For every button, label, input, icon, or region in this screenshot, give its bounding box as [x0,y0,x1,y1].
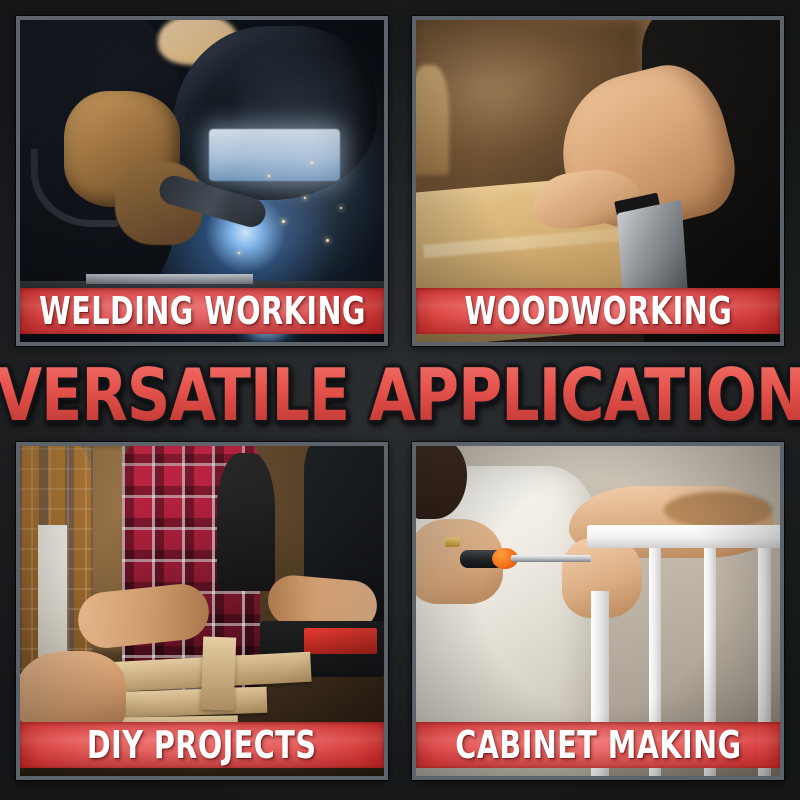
diy-white-shirt [38,525,67,657]
headline-band: VERSATILE APPLICATION [0,352,800,438]
panel-woodworking[interactable]: WOODWORKING [412,16,784,346]
panel-label-banner-woodworking: WOODWORKING [416,288,780,334]
panel-label-welding: WELDING WORKING [39,292,366,330]
weld-spark [268,175,270,177]
panel-label-woodworking: WOODWORKING [464,292,732,330]
wedding-ring [445,537,460,547]
panel-label-cabinet: CABINET MAKING [455,726,741,764]
diy-toolbox-red-tray [304,628,377,654]
weld-spark [326,239,329,242]
page-title: VERSATILE APPLICATION [0,359,800,431]
wood-stock-piece [416,65,449,174]
crib-top-rail [587,525,780,548]
panel-label-banner-diy: DIY PROJECTS [20,722,384,768]
versatile-application-poster: WELDING WORKING WOODWORKING VERSATILE AP… [0,0,800,800]
diy-black-tshirt [217,453,275,592]
diy-plank-vertical [201,637,236,711]
weld-spark [311,162,313,164]
panel-welding-working[interactable]: WELDING WORKING [16,16,388,346]
panel-label-diy: DIY PROJECTS [87,726,317,764]
screwdriver-shaft [511,555,591,562]
weld-spark [304,197,306,199]
weld-spark [282,220,285,223]
panel-label-banner-cabinet: CABINET MAKING [416,722,780,768]
welding-metal-bar [86,274,253,284]
panel-diy-projects[interactable]: DIY PROJECTS [16,442,388,780]
panel-label-banner-welding: WELDING WORKING [20,288,384,334]
panel-cabinet-making[interactable]: CABINET MAKING [412,442,784,780]
